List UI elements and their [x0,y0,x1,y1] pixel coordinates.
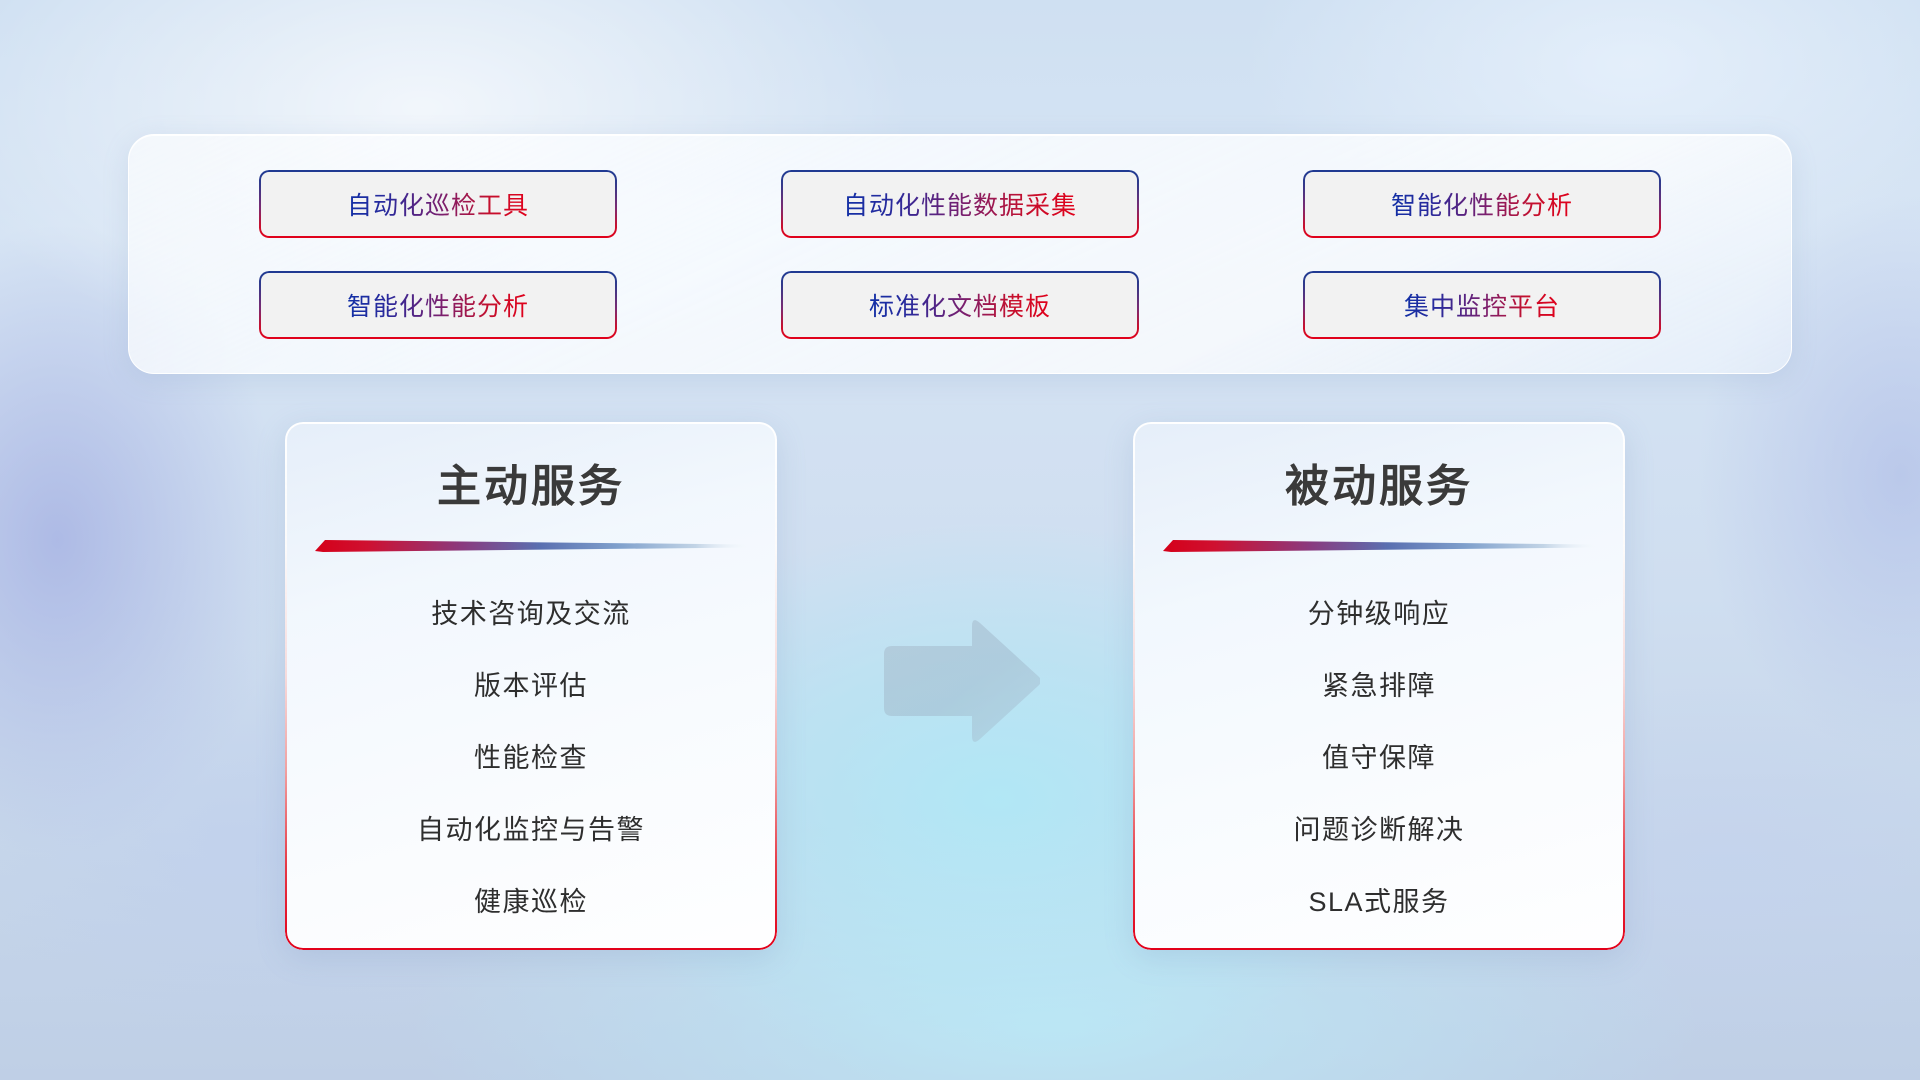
card-list-item: 自动化监控与告警 [417,794,645,866]
capability-pill-label: 集中监控平台 [1404,287,1560,323]
capability-pill-label: 智能化性能分析 [1391,186,1573,222]
capability-pill-label: 标准化文档模板 [869,287,1051,323]
card-divider [1163,538,1595,554]
slide-canvas: 自动化巡检工具 自动化性能数据采集 智能化性能分析 智能化性能分析 标准化文档模… [0,0,1920,1080]
service-card-passive[interactable]: 被动服务 [1133,422,1625,950]
capability-pill[interactable]: 集中监控平台 [1303,271,1661,339]
card-list-item: 分钟级响应 [1308,578,1451,650]
capability-pill[interactable]: 标准化文档模板 [781,271,1139,339]
card-list-item: 紧急排障 [1322,650,1436,722]
capability-pill[interactable]: 自动化巡检工具 [259,170,617,238]
capability-pill[interactable]: 智能化性能分析 [259,271,617,339]
card-list-item: 问题诊断解决 [1294,794,1465,866]
card-divider [315,538,747,554]
capability-pill-label: 智能化性能分析 [347,287,529,323]
capability-pill-label: 自动化性能数据采集 [843,186,1077,222]
capability-pill[interactable]: 自动化性能数据采集 [781,170,1139,238]
card-title: 主动服务 [437,450,625,514]
card-list-item: 性能检查 [474,722,588,794]
card-title: 被动服务 [1285,450,1473,514]
card-list-item: 技术咨询及交流 [431,578,631,650]
card-item-list: 技术咨询及交流 版本评估 性能检查 自动化监控与告警 健康巡检 [285,578,777,938]
card-item-list: 分钟级响应 紧急排障 值守保障 问题诊断解决 SLA式服务 [1133,578,1625,938]
card-list-item: 值守保障 [1322,722,1436,794]
service-card-active[interactable]: 主动服务 [285,422,777,950]
capabilities-panel: 自动化巡检工具 自动化性能数据采集 智能化性能分析 智能化性能分析 标准化文档模… [128,134,1792,374]
capability-pill-label: 自动化巡检工具 [347,186,529,222]
card-list-item: 版本评估 [474,650,588,722]
arrow-right-icon [874,616,1040,742]
card-list-item: 健康巡检 [474,866,588,938]
capability-pill[interactable]: 智能化性能分析 [1303,170,1661,238]
card-list-item: SLA式服务 [1308,866,1449,938]
